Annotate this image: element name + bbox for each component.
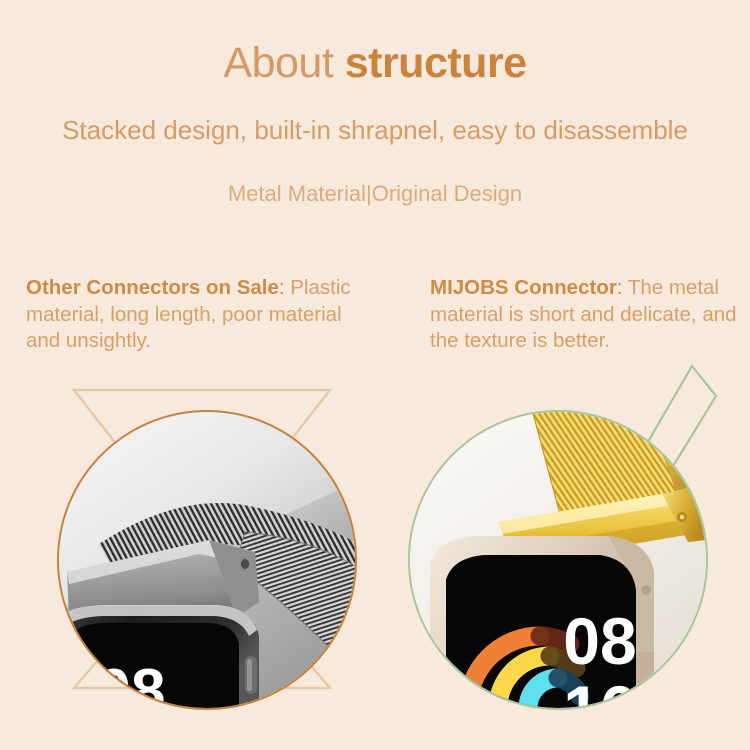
right-product-photo: 08 16 xyxy=(408,410,708,710)
svg-text:08: 08 xyxy=(563,604,636,678)
title-bold-part: structure xyxy=(345,39,527,87)
subtitle: Stacked design, built-in shrapnel, easy … xyxy=(0,114,750,146)
left-column-copy: Other Connectors on Sale: Plastic materi… xyxy=(26,275,376,355)
right-lead-label: MIJOBS Connector xyxy=(430,276,617,299)
right-photo-inner: 08 16 xyxy=(410,412,706,708)
right-description: MIJOBS Connector: The metal material is … xyxy=(430,275,750,355)
svg-text:08: 08 xyxy=(97,657,166,708)
tagline: Metal Material|Original Design xyxy=(0,180,750,208)
left-lead-label: Other Connectors on Sale xyxy=(26,276,279,299)
page-title: About structure xyxy=(0,38,750,88)
right-column-copy: MIJOBS Connector: The metal material is … xyxy=(430,275,750,355)
left-description: Other Connectors on Sale: Plastic materi… xyxy=(26,275,376,355)
svg-text:16: 16 xyxy=(563,672,636,708)
left-photo-inner: 08 xyxy=(59,412,355,708)
product-infographic: About structure Stacked design, built-in… xyxy=(0,0,750,750)
title-light-part: About xyxy=(223,39,344,87)
left-product-photo: 08 xyxy=(57,410,357,710)
